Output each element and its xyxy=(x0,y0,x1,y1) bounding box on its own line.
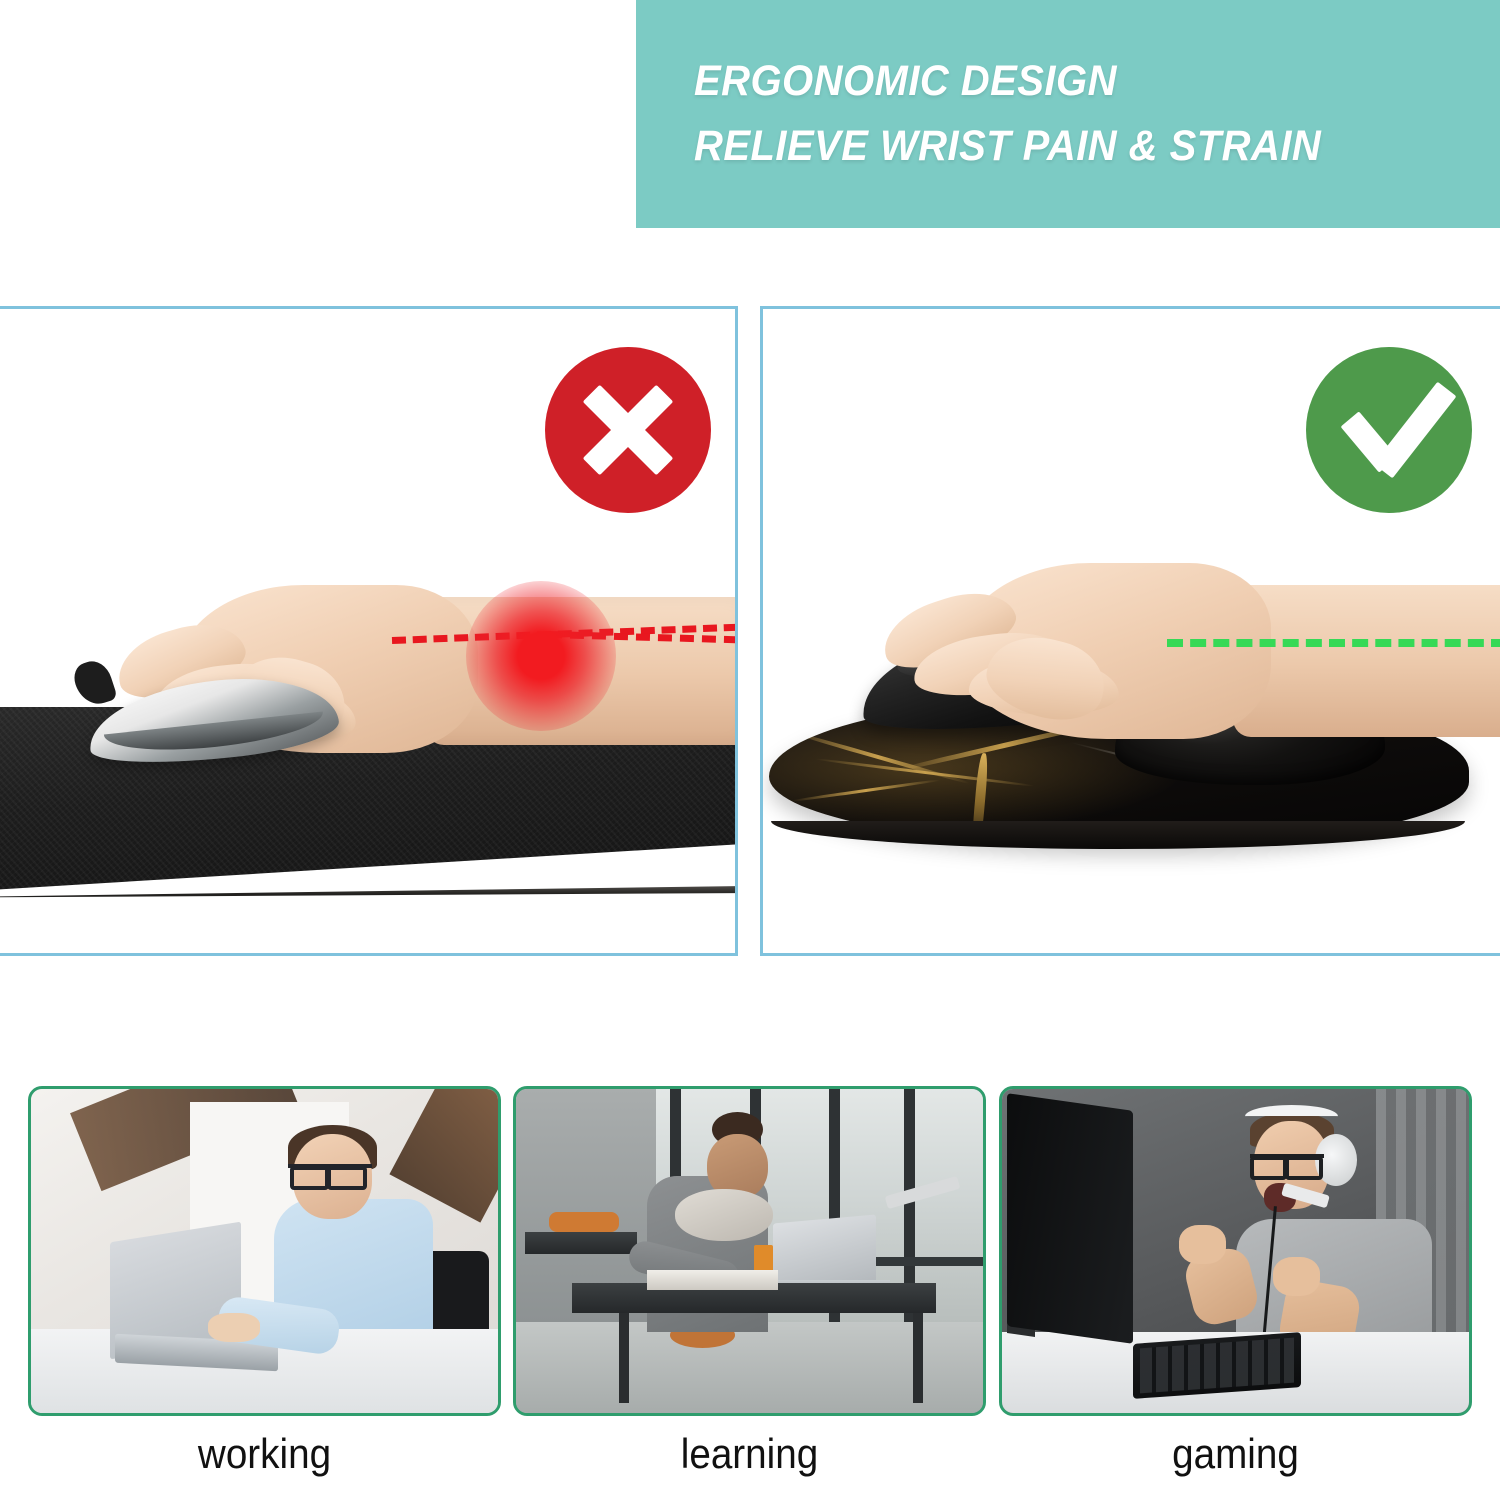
scenario-image-working xyxy=(28,1086,501,1416)
background-chair xyxy=(549,1212,619,1231)
scene-working xyxy=(31,1089,498,1413)
banner-headline-2: RELIEVE WRIST PAIN & STRAIN xyxy=(694,124,1444,169)
wrist-alignment-line-green xyxy=(1167,639,1500,647)
scenario-image-gaming xyxy=(999,1086,1472,1416)
eyeglasses-icon xyxy=(288,1164,372,1180)
scenario-image-learning xyxy=(513,1086,986,1416)
check-mark-icon xyxy=(1306,347,1472,513)
cross-x-glyph xyxy=(576,378,680,482)
mouse-cable xyxy=(70,657,118,710)
scenario-learning: learning xyxy=(513,1086,986,1416)
scenario-label-learning: learning xyxy=(532,1430,967,1478)
cross-x-icon xyxy=(545,347,711,513)
clenched-fist xyxy=(1179,1225,1226,1264)
scenario-working: working xyxy=(28,1086,501,1416)
headphones-icon xyxy=(1245,1105,1338,1128)
wrist-pain-indicator xyxy=(466,581,616,731)
person-hand xyxy=(208,1313,259,1342)
ergonomic-mousepad-edge xyxy=(771,821,1465,849)
scene-gaming xyxy=(1002,1089,1469,1413)
clenched-fist xyxy=(1273,1257,1320,1296)
after-use-panel xyxy=(760,306,1500,956)
books-stack xyxy=(647,1270,778,1289)
use-case-scenarios: working xyxy=(0,1086,1500,1500)
comparison-section: Before use After use xyxy=(0,306,1500,956)
marble-vein xyxy=(792,779,941,803)
background-table xyxy=(525,1232,637,1255)
scene-learning xyxy=(516,1089,983,1413)
scenario-label-working: working xyxy=(47,1430,482,1478)
desk-leg xyxy=(619,1313,629,1404)
scenario-label-gaming: gaming xyxy=(1018,1430,1453,1478)
before-use-panel xyxy=(0,306,738,956)
flat-mousepad-edge xyxy=(0,885,738,898)
scarf xyxy=(675,1189,773,1241)
check-mark-glyph xyxy=(1333,386,1445,474)
forearm xyxy=(1233,585,1500,737)
scenario-gaming: gaming xyxy=(999,1086,1472,1416)
desk-leg xyxy=(913,1313,923,1404)
banner-headline-1: ERGONOMIC DESIGN xyxy=(694,59,1444,104)
header-banner: ERGONOMIC DESIGN RELIEVE WRIST PAIN & ST… xyxy=(636,0,1500,228)
eyeglasses-icon xyxy=(1250,1154,1325,1173)
computer-monitor xyxy=(1007,1093,1133,1344)
